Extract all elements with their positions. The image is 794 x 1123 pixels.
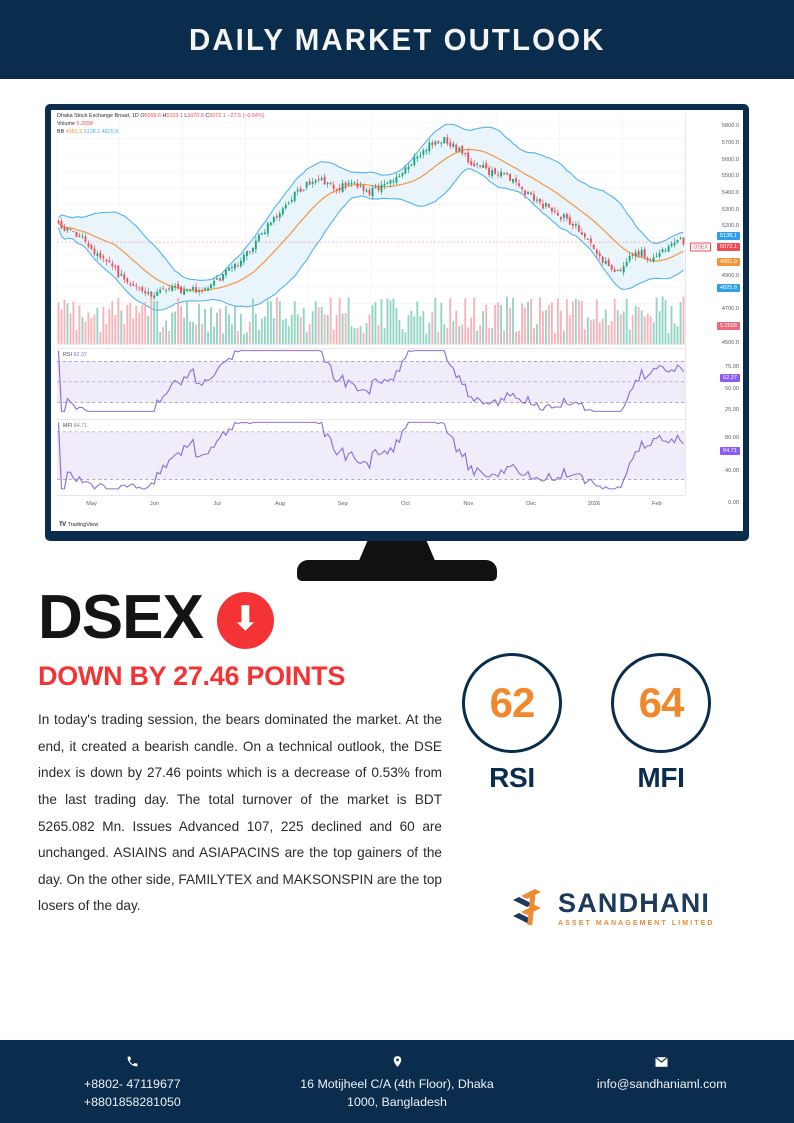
legend-bb-lower: 4825.8 [102,129,119,135]
price-tick: 5600.0 [722,157,739,163]
gauge-rsi: 62 RSI [462,653,562,794]
price-tick: 5400.0 [722,190,739,196]
legend-bb-label: BB [57,129,64,135]
rsi-tick: 25.00 [725,407,739,413]
mfi-badge: 64.71 [720,447,740,455]
legend-bb-basis: 4981.9 [66,129,83,135]
gauge-mfi-value: 64 [639,679,684,727]
price-tick: 4900.0 [722,273,739,279]
time-tick: Jul [214,501,221,507]
location-pin-icon [265,1054,530,1069]
time-tick: Sep [338,501,348,507]
price-badge: 4981.9 [717,258,740,266]
rsi-legend-value: 62.37 [74,352,88,358]
poster: DAILY MARKET OUTLOOK Dhaka Stock Exchang… [0,0,794,1123]
envelope-icon [529,1054,794,1069]
rsi-tick: 75.00 [725,364,739,370]
index-headline-row: DSEX ⬇ [38,588,442,649]
tradingview-label: TradingView [67,522,98,528]
price-pane [57,114,685,345]
rsi-legend: RSI 62.37 [63,352,87,358]
monitor-screen: Dhaka Stock Exchange Broad, 1D O5099.6 H… [51,110,743,531]
price-badge: 5138.1 [717,232,740,240]
brand-text: SANDHANI ASSET MANAGEMENT LIMITED [558,890,715,927]
legend-change: −27.5 (−0.54%) [227,113,264,119]
time-tick: Jun [150,501,159,507]
trading-chart[interactable]: Dhaka Stock Exchange Broad, 1D O5099.6 H… [51,110,743,531]
mfi-series [57,420,685,495]
tradingview-mark: TV [59,522,65,528]
price-badge: 5072.1 [717,243,740,251]
indicator-gauges: 62 RSI 64 MFI [462,653,711,794]
legend-volume-value: 5.2658 [76,121,93,127]
footer-phone: +8802- 47119677 +8801858281050 [0,1040,265,1111]
mfi-legend-name: MFI [63,423,72,429]
legend-low: 5070.8 [187,113,204,119]
price-tick: 4500.0 [722,340,739,346]
gauge-mfi-circle: 64 [611,653,711,753]
legend-symbol: Dhaka Stock Exchange Broad, 1D [57,113,139,119]
legend-close: 5072.1 [209,113,226,119]
legend-open: 5099.6 [145,113,162,119]
footer-address-2: 1000, Bangladesh [265,1094,530,1112]
price-badge: 5.2658 [717,322,740,330]
mfi-pane: MFI 64.71 [57,419,685,495]
price-series [57,114,685,345]
legend-volume-label: Volume [57,121,75,127]
rsi-tick: 50.00 [725,386,739,392]
index-summary-block: DSEX ⬇ DOWN BY 27.46 POINTS In today's t… [38,588,442,920]
chart-legend: Dhaka Stock Exchange Broad, 1D O5099.6 H… [57,113,265,136]
time-tick: Oct [401,501,410,507]
legend-bb: BB 4981.9 5138.1 4825.8 [57,129,265,137]
brand-logo: SANDHANI ASSET MANAGEMENT LIMITED [505,885,715,931]
gauge-rsi-value: 62 [490,679,535,727]
price-tick: 5500.0 [722,173,739,179]
tradingview-watermark: TV TradingView [59,522,98,528]
monitor-illustration: Dhaka Stock Exchange Broad, 1D O5099.6 H… [0,104,794,569]
symbol-tag: DSEX [690,243,711,252]
time-tick: 2026 [588,501,600,507]
price-tick: 5200.0 [722,223,739,229]
footer-phone-2: +8801858281050 [0,1094,265,1112]
footer-address-1: 16 Motijheel C/A (4th Floor), Dhaka [265,1076,530,1094]
time-tick: Feb [652,501,662,507]
mfi-tick: 0.00 [728,500,739,506]
arrow-down-icon: ⬇ [217,592,274,649]
price-axis[interactable]: 5800.05700.05600.05500.05400.05300.05200… [685,114,743,495]
price-tick: 4700.0 [722,306,739,312]
time-axis[interactable]: MayJunJulAugSepOctNovDec2026Feb [57,495,685,515]
price-badge: 4825.8 [717,284,740,292]
arrow-down-glyph: ⬇ [231,602,260,636]
rsi-series [57,349,685,415]
gauge-rsi-circle: 62 [462,653,562,753]
brand-tagline: ASSET MANAGEMENT LIMITED [558,920,715,927]
page-header: DAILY MARKET OUTLOOK [0,0,794,79]
mfi-tick: 40.00 [725,468,739,474]
rsi-pane: RSI 62.37 [57,348,685,415]
index-change-headline: DOWN BY 27.46 POINTS [38,661,442,692]
legend-high: 5103.1 [166,113,183,119]
price-tick: 5300.0 [722,207,739,213]
price-tick: 5800.0 [722,123,739,129]
mfi-tick: 80.00 [725,435,739,441]
rsi-badge: 62.37 [720,374,740,382]
gauge-mfi: 64 MFI [611,653,711,794]
time-tick: Dec [526,501,536,507]
price-tick: 5700.0 [722,140,739,146]
market-summary-text: In today's trading session, the bears do… [38,707,442,920]
mfi-legend-value: 64.71 [74,423,88,429]
time-tick: Nov [463,501,473,507]
mfi-legend: MFI 64.71 [63,423,87,429]
footer-email: info@sandhaniaml.com [529,1040,794,1094]
chart-plot-area: RSI 62.37 [57,114,685,495]
page-title: DAILY MARKET OUTLOOK [189,22,605,58]
sandhani-logo-icon [505,885,549,931]
rsi-legend-name: RSI [63,352,72,358]
legend-volume: Volume 5.2658 [57,121,265,129]
brand-name: SANDHANI [558,890,715,917]
page-footer: +8802- 47119677 +8801858281050 16 Motijh… [0,1040,794,1123]
time-tick: Aug [275,501,285,507]
phone-icon [0,1054,265,1069]
legend-bb-upper: 5138.1 [84,129,101,135]
monitor-base [297,560,497,581]
gauge-mfi-label: MFI [611,762,711,794]
index-name: DSEX [38,589,203,648]
monitor-bezel: Dhaka Stock Exchange Broad, 1D O5099.6 H… [45,104,749,541]
footer-address: 16 Motijheel C/A (4th Floor), Dhaka 1000… [265,1040,530,1111]
gauge-rsi-label: RSI [462,762,562,794]
footer-phone-1: +8802- 47119677 [0,1076,265,1094]
footer-email-1: info@sandhaniaml.com [529,1076,794,1094]
legend-ohlc: Dhaka Stock Exchange Broad, 1D O5099.6 H… [57,113,265,121]
time-tick: May [86,501,97,507]
